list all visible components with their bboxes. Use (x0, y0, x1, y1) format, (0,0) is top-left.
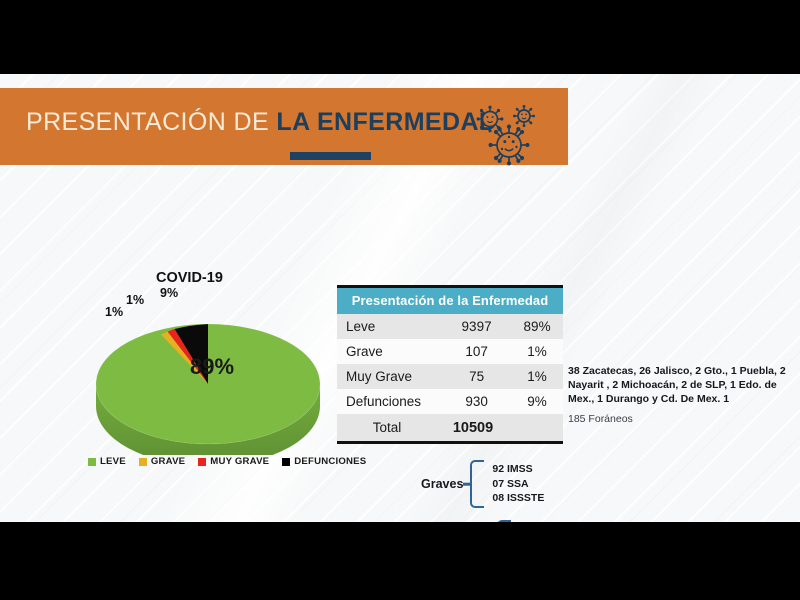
bracket-icon (497, 520, 511, 522)
bracket-icon (470, 460, 484, 508)
group-graves-items: 92 IMSS 07 SSA 08 ISSSTE (492, 462, 544, 505)
row-pct: 1% (511, 344, 563, 359)
legend-swatch-grave (139, 458, 147, 466)
row-count: 9397 (442, 319, 511, 334)
table-row: Grave 107 1% (337, 339, 563, 364)
group-item: 07 SSA (492, 477, 544, 491)
pie-label-leve: 89% (190, 354, 234, 380)
row-label: Defunciones (337, 394, 442, 409)
table-row: Leve 9397 89% (337, 314, 563, 339)
group-item: 92 IMSS (492, 462, 544, 476)
pie-label-defunciones: 9% (160, 286, 178, 300)
group-graves-label: Graves (421, 477, 463, 491)
legend-item-defunciones: DEFUNCIONES (282, 456, 366, 467)
page-title-light: PRESENTACIÓN DE (26, 108, 276, 136)
slide-canvas: PRESENTACIÓN DE LA ENFERMEDAD (0, 74, 800, 522)
row-label: Leve (337, 319, 442, 334)
table-header: Presentación de la Enfermedad (337, 288, 563, 314)
slide-stage: PRESENTACIÓN DE LA ENFERMEDAD (0, 0, 800, 600)
row-label: Grave (337, 344, 442, 359)
group-item: 08 ISSSTE (492, 491, 544, 505)
chart-legend: LEVE GRAVE MUY GRAVE DEFUNCIONES (88, 456, 366, 467)
legend-swatch-leve (88, 458, 96, 466)
legend-swatch-muy-grave (198, 458, 206, 466)
foraneos-note: 185 Foráneos (568, 413, 633, 425)
row-count: 75 (442, 369, 511, 384)
group-muy-graves: Muy graves 46 IMSS 22 SSA 07 ISSSTE (421, 520, 571, 522)
row-pct: 1% (511, 369, 563, 384)
legend-label-defunciones: DEFUNCIONES (294, 456, 366, 467)
states-note: 38 Zacatecas, 26 Jalisco, 2 Gto., 1 Pueb… (568, 365, 793, 407)
table-row: Muy Grave 75 1% (337, 364, 563, 389)
legend-label-grave: GRAVE (151, 456, 185, 467)
table-row: Defunciones 930 9% (337, 389, 563, 414)
table-bottom-rule (337, 441, 563, 444)
legend-item-leve: LEVE (88, 456, 126, 467)
group-graves: Graves 92 IMSS 07 SSA 08 ISSSTE (421, 460, 544, 508)
row-pct: 89% (511, 319, 563, 334)
page-title-bold: LA ENFERMEDAD (276, 108, 497, 136)
pie-label-grave: 1% (105, 305, 123, 319)
row-count: 930 (442, 394, 511, 409)
total-label: Total (337, 420, 437, 435)
virus-icon (476, 105, 540, 167)
legend-item-muy-grave: MUY GRAVE (198, 456, 269, 467)
total-value: 10509 (437, 420, 509, 436)
table-total-row: Total 10509 (337, 414, 563, 441)
chart-title: COVID-19 (156, 270, 223, 286)
disease-table: Presentación de la Enfermedad Leve 9397 … (337, 285, 563, 444)
legend-item-grave: GRAVE (139, 456, 185, 467)
title-underline (290, 152, 371, 160)
legend-swatch-defunciones (282, 458, 290, 466)
letterbox-top (0, 0, 800, 74)
row-pct: 9% (511, 394, 563, 409)
row-count: 107 (442, 344, 511, 359)
header-banner: PRESENTACIÓN DE LA ENFERMEDAD (0, 88, 568, 165)
letterbox-bottom (0, 522, 800, 600)
page-title: PRESENTACIÓN DE LA ENFERMEDAD (26, 108, 497, 137)
legend-label-leve: LEVE (100, 456, 126, 467)
legend-label-muy-grave: MUY GRAVE (210, 456, 269, 467)
pie-label-muy-grave: 1% (126, 293, 144, 307)
row-label: Muy Grave (337, 369, 442, 384)
